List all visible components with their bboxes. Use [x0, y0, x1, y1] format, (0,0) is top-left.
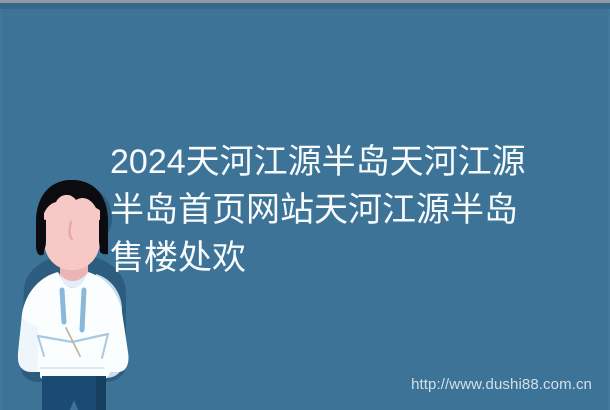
promo-banner: 2024天河江源半岛天河江源半岛首页网站天河江源半岛售楼处欢 http://ww…	[0, 0, 610, 410]
top-accent-band	[0, 3, 610, 9]
left-edge-strip	[0, 3, 2, 410]
pants-shadow-right	[96, 376, 106, 410]
drawstring-left	[62, 290, 64, 322]
page-title: 2024天河江源半岛天河江源半岛首页网站天河江源半岛售楼处欢	[110, 138, 540, 282]
drawstring-right	[82, 290, 84, 330]
watermark-url: http://www.dushi88.com.cn	[411, 376, 592, 394]
hair-side-left	[38, 218, 46, 252]
